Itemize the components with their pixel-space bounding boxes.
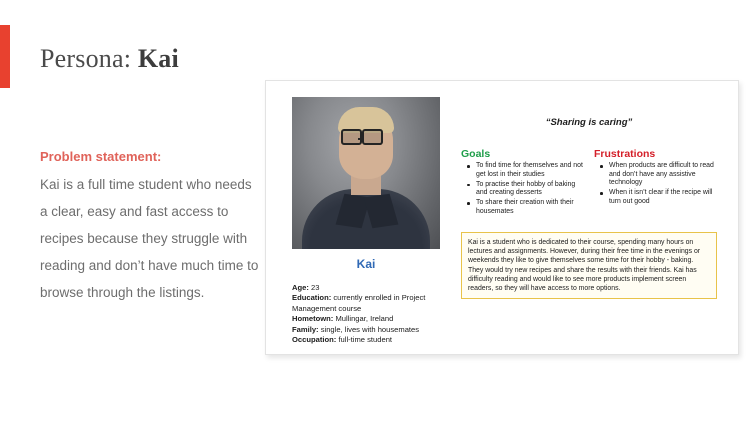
demographic-value: 23 — [311, 283, 319, 292]
demographic-row: Education: currently enrolled in Project… — [292, 293, 440, 314]
frustrations-column: Frustrations When products are difficult… — [594, 148, 717, 218]
goals-column: Goals To find time for themselves and no… — [461, 148, 584, 218]
persona-photo — [292, 97, 440, 249]
demographic-value: Mullingar, Ireland — [335, 314, 393, 323]
page-title: Persona: Kai — [40, 44, 179, 74]
frustrations-heading: Frustrations — [594, 148, 717, 160]
demographic-row: Occupation: full-time student — [292, 335, 440, 345]
demographic-label: Family: — [292, 325, 319, 334]
demographic-value: full-time student — [338, 335, 392, 344]
persona-name: Kai — [292, 257, 440, 271]
list-item: To practise their hobby of baking and cr… — [476, 181, 584, 198]
demographic-value: single, lives with housemates — [321, 325, 419, 334]
persona-card-left-column: Kai Age: 23 Education: currently enrolle… — [292, 97, 440, 345]
demographic-label: Occupation: — [292, 335, 336, 344]
demographic-label: Hometown: — [292, 314, 333, 323]
list-item: When products are difficult to read and … — [609, 162, 717, 188]
frustrations-list: When products are difficult to read and … — [594, 162, 717, 206]
list-item: To share their creation with their house… — [476, 199, 584, 216]
problem-statement-heading: Problem statement: — [40, 143, 262, 170]
problem-statement-body: Kai is a full time student who needs a c… — [40, 171, 262, 306]
goals-list: To find time for themselves and not get … — [461, 162, 584, 217]
glasses-right-lens-icon — [362, 129, 383, 145]
glasses-left-lens-icon — [341, 129, 362, 145]
list-item: When it isn’t clear if the recipe will t… — [609, 189, 717, 206]
persona-bio-box: Kai is a student who is dedicated to the… — [461, 232, 717, 299]
goals-frustrations-columns: Goals To find time for themselves and no… — [461, 148, 717, 218]
page-title-name: Kai — [138, 44, 179, 73]
problem-statement-block: Problem statement: Kai is a full time st… — [40, 143, 262, 306]
title-accent-bar — [0, 25, 10, 88]
demographic-label: Education: — [292, 293, 331, 302]
goals-heading: Goals — [461, 148, 584, 160]
page-title-prefix: Persona: — [40, 44, 138, 73]
persona-card-right-column: “Sharing is caring” Goals To find time f… — [461, 97, 717, 299]
persona-quote: “Sharing is caring” — [461, 117, 717, 128]
demographic-row: Age: 23 — [292, 283, 440, 293]
persona-demographics-list: Age: 23 Education: currently enrolled in… — [292, 283, 440, 345]
demographic-label: Age: — [292, 283, 309, 292]
persona-card: Kai Age: 23 Education: currently enrolle… — [265, 80, 739, 355]
list-item: To find time for themselves and not get … — [476, 162, 584, 179]
demographic-row: Hometown: Mullingar, Ireland — [292, 314, 440, 324]
demographic-row: Family: single, lives with housemates — [292, 325, 440, 335]
